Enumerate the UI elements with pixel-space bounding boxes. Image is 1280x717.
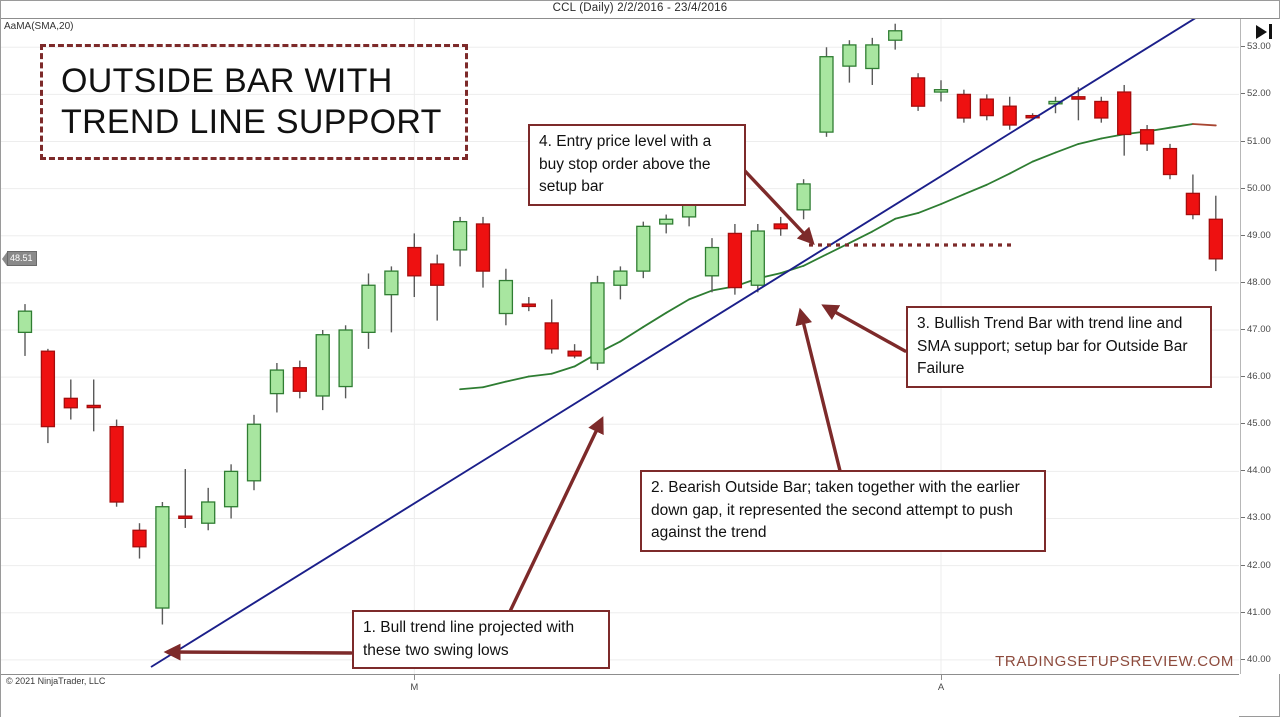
headline-line-2: TREND LINE SUPPORT xyxy=(61,102,465,143)
skip-to-end-icon[interactable] xyxy=(1256,24,1272,39)
copyright-label: © 2021 NinjaTrader, LLC xyxy=(6,676,105,686)
time-tick-M: M xyxy=(410,682,418,693)
headline-line-1: OUTSIDE BAR WITH xyxy=(61,61,465,102)
chart-window: CCL (Daily) 2/2/2016 - 23/4/2016 AaMA(SM… xyxy=(0,0,1280,717)
time-axis[interactable]: MA xyxy=(1,674,1239,717)
price-tick-51.00: 51.00 xyxy=(1241,136,1271,147)
last-price-marker: 48.51 xyxy=(2,252,37,266)
price-tick-45.00: 45.00 xyxy=(1241,418,1271,429)
price-tick-40.00: 40.00 xyxy=(1241,654,1271,665)
annotation-3: 3. Bullish Trend Bar with trend line and… xyxy=(906,306,1212,388)
annotation-1-arrow-left xyxy=(169,652,351,653)
time-tickmark xyxy=(414,675,415,680)
price-tick-42.00: 42.00 xyxy=(1241,560,1271,571)
price-tick-41.00: 41.00 xyxy=(1241,607,1271,618)
price-tick-49.00: 49.00 xyxy=(1241,230,1271,241)
play-triangle-icon xyxy=(1256,25,1267,39)
time-tickmark xyxy=(941,675,942,680)
headline-callout: OUTSIDE BAR WITH TREND LINE SUPPORT xyxy=(40,44,468,160)
annotation-4: 4. Entry price level with a buy stop ord… xyxy=(528,124,746,206)
price-tick-47.00: 47.00 xyxy=(1241,324,1271,335)
annotation-3-arrow xyxy=(826,307,905,351)
annotation-2: 2. Bearish Outside Bar; taken together w… xyxy=(640,470,1046,552)
time-tick-A: A xyxy=(938,682,944,693)
site-watermark: TRADINGSETUPSREVIEW.COM xyxy=(995,653,1234,670)
annotation-1: 1. Bull trend line projected with these … xyxy=(352,610,610,669)
price-tick-52.00: 52.00 xyxy=(1241,88,1271,99)
annotation-2-arrow xyxy=(801,313,844,487)
indicator-label: AaMA(SMA,20) xyxy=(4,21,73,32)
price-tick-46.00: 46.00 xyxy=(1241,371,1271,382)
price-axis[interactable]: 53.0052.0051.0050.0049.0048.0047.0046.00… xyxy=(1240,19,1280,674)
chart-title: CCL (Daily) 2/2/2016 - 23/4/2016 xyxy=(0,2,1280,14)
price-tick-48.00: 48.00 xyxy=(1241,277,1271,288)
price-marker-value: 48.51 xyxy=(7,251,37,266)
price-tick-44.00: 44.00 xyxy=(1241,465,1271,476)
price-tick-43.00: 43.00 xyxy=(1241,512,1271,523)
price-tick-53.00: 53.00 xyxy=(1241,41,1271,52)
play-end-bar-icon xyxy=(1269,24,1272,39)
price-tick-50.00: 50.00 xyxy=(1241,183,1271,194)
